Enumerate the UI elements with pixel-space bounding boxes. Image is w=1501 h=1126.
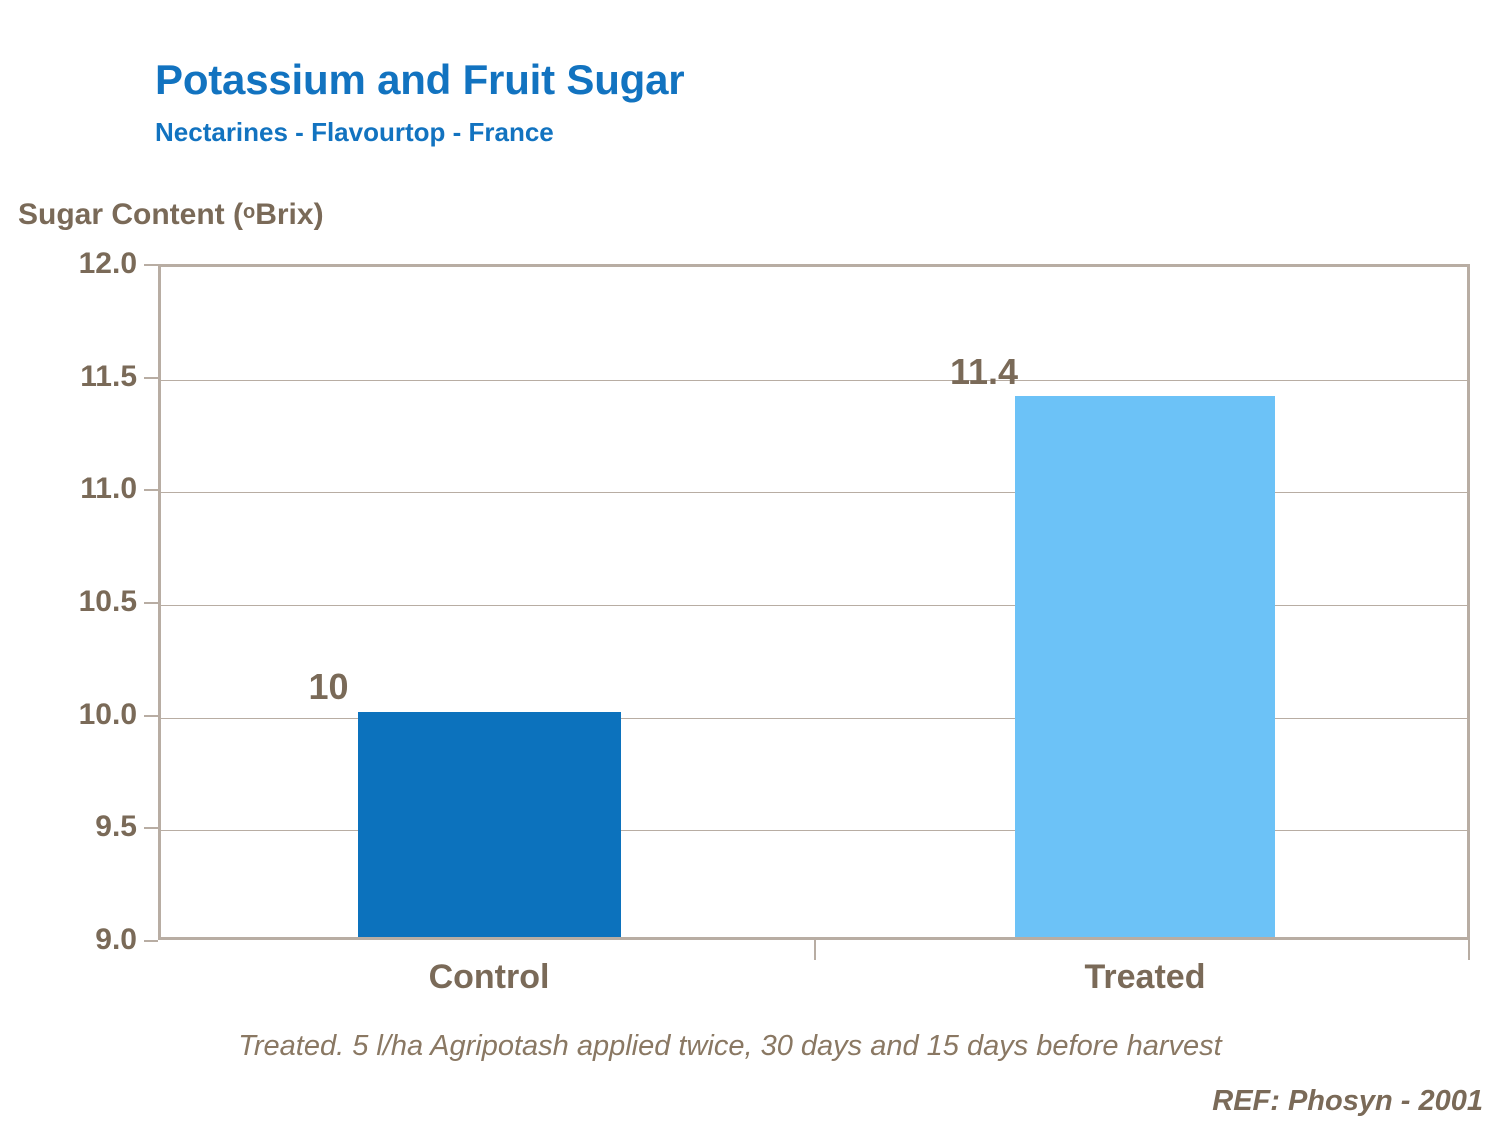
y-tick-mark-9-0: [144, 940, 158, 942]
chart-subtitle: Nectarines - Flavourtop - France: [155, 117, 554, 148]
x-category-control: Control: [258, 958, 720, 997]
y-tick-label-9-5: 9.5: [17, 810, 137, 844]
reference-text: REF: Phosyn - 2001: [1212, 1085, 1483, 1118]
gridline-11-5: [161, 380, 1467, 381]
bar-treated[interactable]: [1015, 396, 1275, 937]
degree-symbol: o: [243, 201, 255, 223]
bar-value-control: 10: [197, 666, 460, 708]
y-axis-title-suffix: Brix): [255, 198, 323, 231]
y-tick-mark-10-5: [144, 602, 158, 604]
y-tick-mark-12-0: [144, 264, 158, 266]
y-tick-label-10-0: 10.0: [17, 698, 137, 732]
x-tick-mark-right: [1468, 940, 1470, 960]
y-tick-label-9-0: 9.0: [17, 923, 137, 957]
y-tick-mark-10-0: [144, 715, 158, 717]
bar-value-treated: 11.4: [854, 351, 1114, 393]
y-tick-label-12-0: 12.0: [17, 247, 137, 281]
y-tick-label-11-5: 11.5: [17, 360, 137, 394]
y-tick-label-10-5: 10.5: [17, 585, 137, 619]
y-axis-title-text: Sugar Content (: [18, 198, 243, 231]
y-tick-mark-9-5: [144, 827, 158, 829]
y-tick-label-11-0: 11.0: [17, 472, 137, 506]
y-tick-mark-11-0: [144, 489, 158, 491]
y-tick-mark-11-5: [144, 377, 158, 379]
x-category-treated: Treated: [915, 958, 1375, 997]
page-title: Potassium and Fruit Sugar: [155, 56, 684, 104]
footnote-text: Treated. 5 l/ha Agripotash applied twice…: [0, 1030, 1460, 1063]
plot-area: [158, 264, 1470, 940]
bar-control[interactable]: [358, 712, 621, 937]
chart-slide: Potassium and Fruit Sugar Nectarines - F…: [0, 0, 1501, 1126]
x-tick-mark-center: [814, 940, 816, 960]
y-axis-title: Sugar Content (oBrix): [18, 198, 324, 232]
